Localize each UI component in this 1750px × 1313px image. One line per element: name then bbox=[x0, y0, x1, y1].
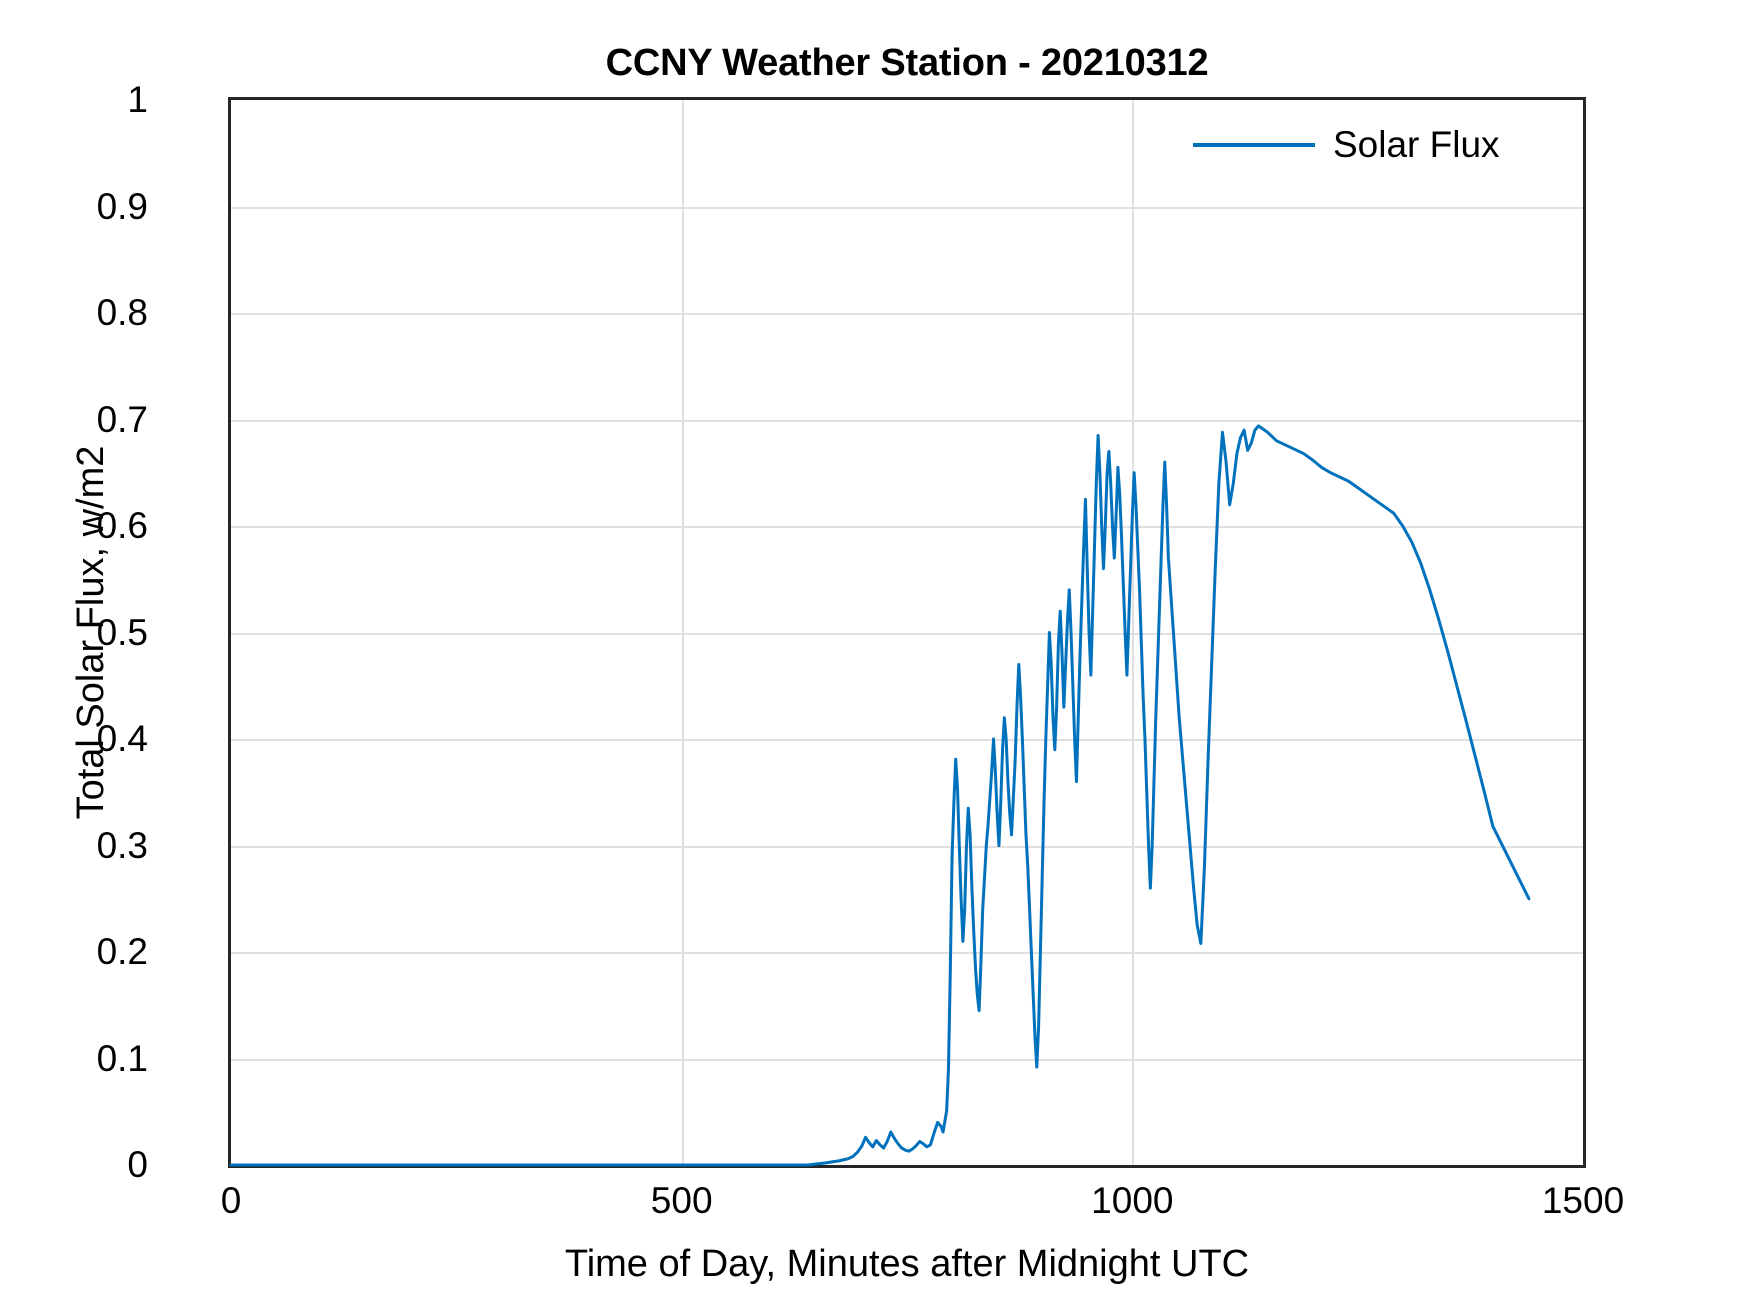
y-axis-tick-label: 0.3 bbox=[97, 825, 148, 867]
y-axis-tick-label: 0.2 bbox=[97, 931, 148, 973]
y-axis-tick-label: 0.6 bbox=[97, 505, 148, 547]
chart-legend[interactable]: Solar Flux bbox=[1185, 110, 1575, 180]
legend-label-solar-flux: Solar Flux bbox=[1333, 124, 1500, 166]
y-axis-tick-label: 0.7 bbox=[97, 399, 148, 441]
x-axis-tick-label: 1000 bbox=[1091, 1180, 1173, 1222]
legend-line-swatch bbox=[1193, 143, 1315, 147]
plot-area bbox=[228, 97, 1586, 1168]
series-line-solar-flux bbox=[231, 426, 1529, 1165]
x-axis-tick-label: 500 bbox=[651, 1180, 713, 1222]
y-axis-tick-label: 0.8 bbox=[97, 292, 148, 334]
y-axis-tick-label: 0.1 bbox=[97, 1038, 148, 1080]
y-axis-tick-label: 0 bbox=[127, 1144, 148, 1186]
figure-canvas: CCNY Weather Station - 20210312 Total So… bbox=[0, 0, 1750, 1313]
y-axis-tick-label: 1 bbox=[127, 79, 148, 121]
chart-title: CCNY Weather Station - 20210312 bbox=[228, 42, 1586, 85]
y-axis-tick-label: 0.4 bbox=[97, 718, 148, 760]
y-axis-tick-label: 0.5 bbox=[97, 612, 148, 654]
x-axis-tick-label: 1500 bbox=[1542, 1180, 1624, 1222]
x-axis-label: Time of Day, Minutes after Midnight UTC bbox=[228, 1243, 1586, 1286]
data-series-layer bbox=[231, 100, 1583, 1165]
y-axis-tick-label: 0.9 bbox=[97, 186, 148, 228]
x-axis-tick-label: 0 bbox=[221, 1180, 242, 1222]
